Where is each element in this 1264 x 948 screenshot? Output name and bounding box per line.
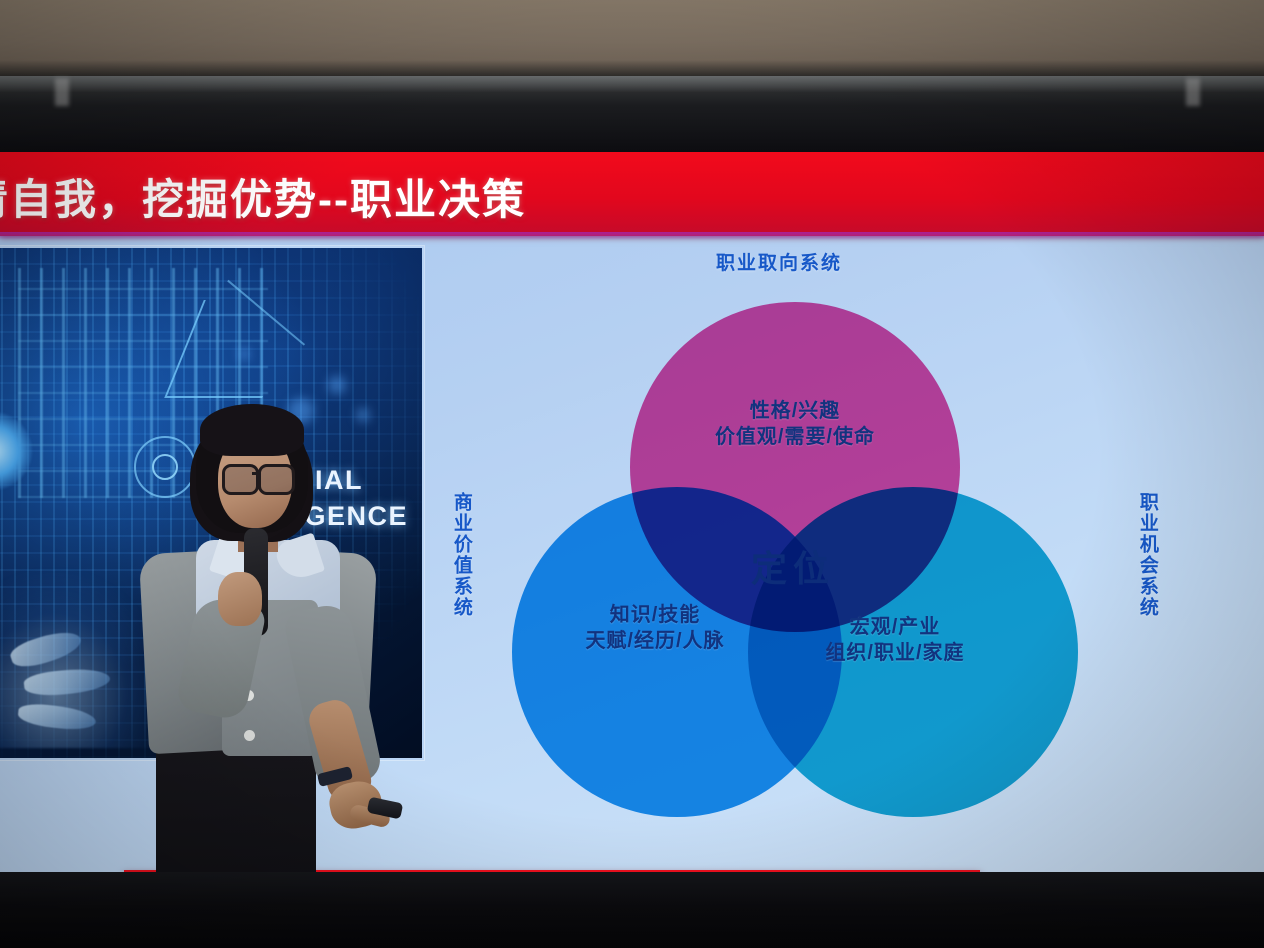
venn-circle-label-teal: 宏观/产业 组织/职业/家庭 (770, 614, 1020, 666)
bokeh-dot (328, 376, 346, 394)
bezel-mount-right (1186, 78, 1200, 106)
ai-image-panel: TIFICIAL ELLIGENCE (0, 246, 424, 760)
venn-diagram: 职业取向系统 商业价值系统 职业机会系统 性格/兴趣 价值观/需要/使命 知识/… (430, 240, 1264, 874)
bokeh-dot (356, 408, 370, 422)
bokeh-dot (238, 348, 250, 360)
screen-bottom-bezel (0, 872, 1264, 948)
bokeh-dot (288, 398, 314, 424)
title-banner-underglow (0, 232, 1264, 240)
bezel-highlight (0, 76, 1264, 92)
ai-panel-caption: TIFICIAL ELLIGENCE (240, 463, 408, 534)
slide-title-banner: 清自我，挖掘优势--职业决策 (0, 152, 1264, 236)
venn-circles-stage: 性格/兴趣 价值观/需要/使命 知识/技能 天赋/经历/人脉 宏观/产业 组织/… (512, 302, 1072, 752)
venn-circle-label-blue: 知识/技能 天赋/经历/人脉 (530, 602, 780, 654)
venn-system-label-left: 商业价值系统 (450, 492, 472, 618)
slide-body: TIFICIAL ELLIGENCE 职业取向系统 商业价值系统 职业机会系统 … (0, 240, 1264, 874)
ai-caption-line-2: ELLIGENCE (240, 499, 408, 535)
presentation-photo-scene: 清自我，挖掘优势--职业决策 TIFICIA (0, 0, 1264, 948)
projected-slide: 清自我，挖掘优势--职业决策 TIFICIA (0, 152, 1264, 874)
bezel-mount-left (55, 78, 69, 106)
venn-center-label: 定位 (708, 540, 878, 592)
ai-caption-line-1: TIFICIAL (240, 463, 408, 499)
venn-system-label-right: 职业机会系统 (1136, 492, 1158, 618)
venn-system-label-top: 职业取向系统 (716, 248, 842, 275)
venn-circle-label-pink: 性格/兴趣 价值观/需要/使命 (670, 398, 920, 450)
slide-title-text: 清自我，挖掘优势--职业决策 (0, 166, 526, 227)
target-ring-icon (134, 436, 196, 498)
